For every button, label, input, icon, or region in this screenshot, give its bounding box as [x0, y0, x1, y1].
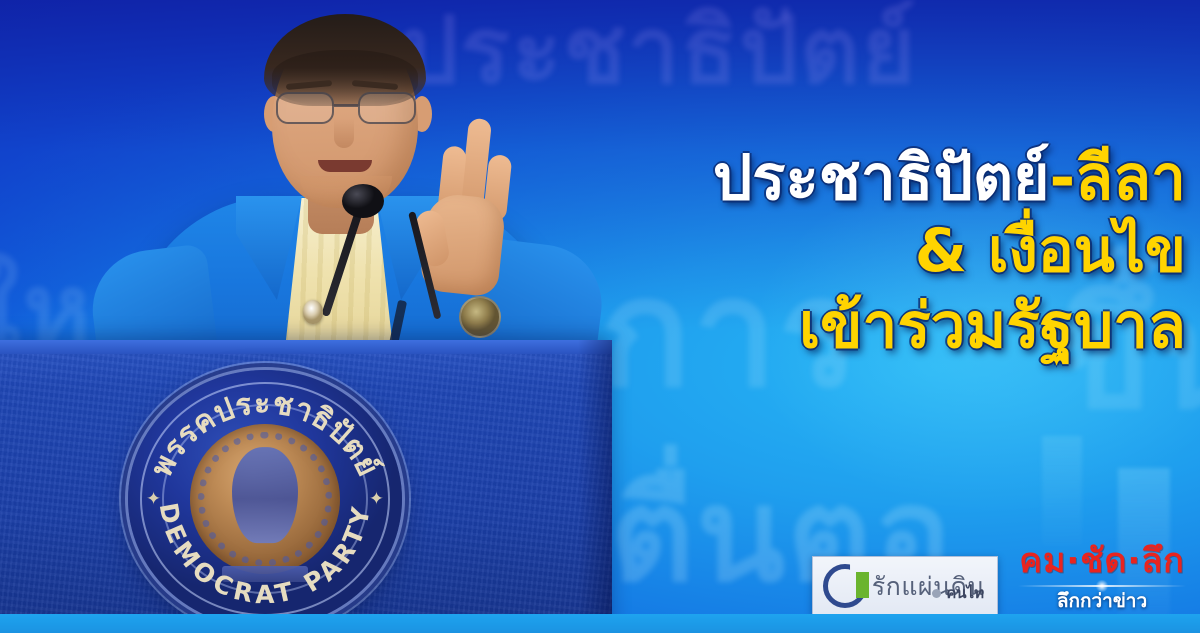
- headline-line-2: & เงื่อนไข: [606, 221, 1186, 282]
- emblem-deity-figure: [232, 447, 298, 543]
- podium-top-edge: [0, 340, 612, 354]
- speaker-mouth: [318, 160, 372, 172]
- kom-chad-luek-name: คม·ชัด·ลึก: [1019, 544, 1185, 578]
- headline-line-3: เข้าร่วมรัฐบาล: [606, 294, 1186, 357]
- rak-phaen-din-mark-icon: [823, 564, 867, 608]
- glasses-bridge: [334, 104, 358, 107]
- speaker-nose: [334, 118, 354, 148]
- headline-block: ประชาธิปัตย์-ลีลา & เงื่อนไข เข้าร่วมรัฐ…: [606, 146, 1186, 370]
- news-graphic-canvas: ประชาธิปัตย์ ใหม่ การ ตื่นตอ ขึ้นแล: [0, 0, 1200, 633]
- headline-line-1-yellow: -ลีลา: [1049, 141, 1186, 214]
- emblem-star-left-icon: ✦: [146, 489, 161, 510]
- rak-phaen-din-sub-row: คนไท: [932, 581, 984, 605]
- bottom-accent-strip: [0, 614, 1200, 633]
- microphone-head: [342, 184, 384, 218]
- sparkle-icon: [1093, 577, 1111, 595]
- glasses-lens-left: [276, 92, 334, 124]
- rak-phaen-din-sub: คนไท: [946, 581, 984, 605]
- democrat-party-emblem: ✦ ✦ พรรคประชาธิปัตย์ DEMOCRAT PARTY: [128, 370, 402, 628]
- emblem-pedestal: [222, 566, 308, 582]
- background-panel-4: [1042, 436, 1082, 546]
- kom-chad-luek-tagline: ลึกกว่าข่าว: [1057, 592, 1147, 611]
- logo-row: รักแผ่นดิน คม·ชัด·ลึก ลึกกว่าข่าว: [812, 542, 1192, 615]
- headline-line-1: ประชาธิปัตย์-ลีลา: [606, 146, 1186, 209]
- headline-line-1-white: ประชาธิปัตย์: [713, 141, 1050, 214]
- bullet-dot-icon: [932, 589, 941, 598]
- podium-right-shadow: [578, 340, 612, 633]
- jacket-badge-icon: [459, 296, 501, 338]
- logo-kom-chad-luek[interactable]: คม·ชัด·ลึก ลึกกว่าข่าว: [1012, 542, 1192, 615]
- emblem-star-right-icon: ✦: [369, 489, 384, 510]
- glasses-lens-right: [358, 92, 416, 124]
- kom-chad-luek-divider: [1018, 581, 1186, 590]
- lapel-pin-icon: [303, 300, 323, 324]
